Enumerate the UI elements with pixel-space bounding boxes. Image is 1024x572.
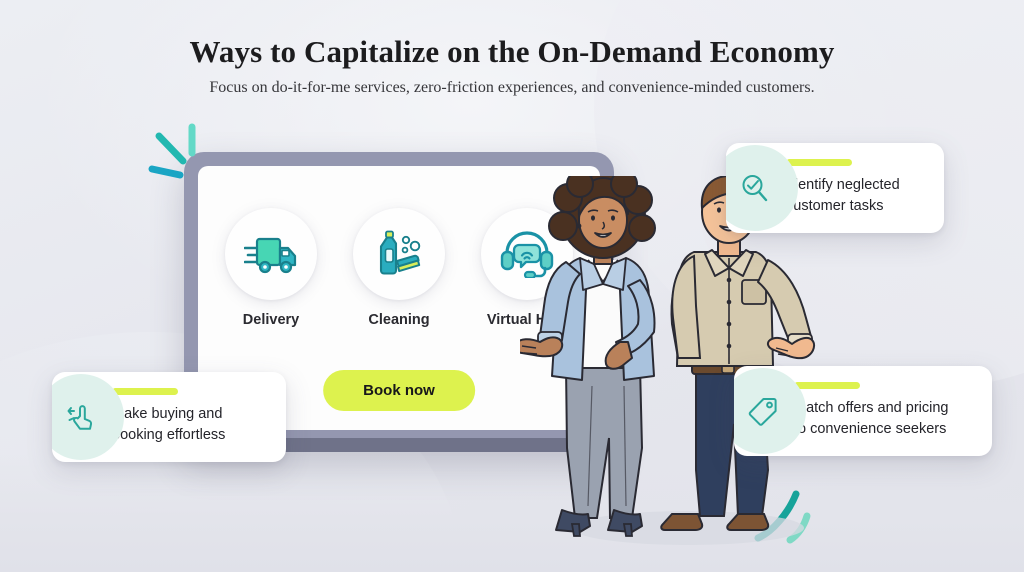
spark-lines-icon (142, 122, 216, 192)
delivery-truck-icon (244, 234, 298, 274)
page-title: Ways to Capitalize on the On-Demand Econ… (0, 34, 1024, 70)
card-text-line2: customer tasks (786, 196, 900, 217)
card-icon-wrap (726, 143, 784, 233)
card-text-line2: booking effortless (112, 425, 225, 446)
callout-card-match[interactable]: Match offers and pricing to convenience … (734, 366, 992, 456)
header: Ways to Capitalize on the On-Demand Econ… (0, 34, 1024, 97)
tap-gesture-icon (66, 402, 96, 432)
card-text-line1: Identify neglected (786, 175, 900, 196)
cleaning-supplies-icon (372, 230, 426, 278)
price-tag-icon (748, 396, 778, 426)
callout-card-identify[interactable]: Identify neglected customer tasks (726, 143, 944, 233)
service-icon-circle (353, 208, 445, 300)
card-text-line1: Make buying and (112, 404, 225, 425)
service-item-cleaning[interactable]: Cleaning (353, 208, 445, 328)
card-accent-bar (794, 382, 860, 389)
person-woman (520, 176, 655, 536)
background-floor (0, 454, 1024, 572)
page-subtitle: Focus on do-it-for-me services, zero-fri… (0, 79, 1024, 97)
service-item-delivery[interactable]: Delivery (225, 208, 317, 328)
book-now-button[interactable]: Book now (323, 370, 475, 411)
card-body: Match offers and pricing to convenience … (792, 366, 968, 456)
service-icon-circle (225, 208, 317, 300)
card-body: Identify neglected customer tasks (784, 143, 920, 233)
card-text-line2: to convenience seekers (794, 419, 948, 440)
service-label: Delivery (225, 312, 317, 328)
card-body: Make buying and booking effortless (110, 372, 245, 462)
card-accent-bar (786, 159, 852, 166)
service-label: Cleaning (353, 312, 445, 328)
card-text-line1: Match offers and pricing (794, 398, 948, 419)
card-icon-wrap (52, 372, 110, 462)
callout-card-effortless[interactable]: Make buying and booking effortless (52, 372, 286, 462)
card-accent-bar (112, 388, 178, 395)
card-icon-wrap (734, 366, 792, 456)
magnifier-check-icon (740, 173, 770, 203)
